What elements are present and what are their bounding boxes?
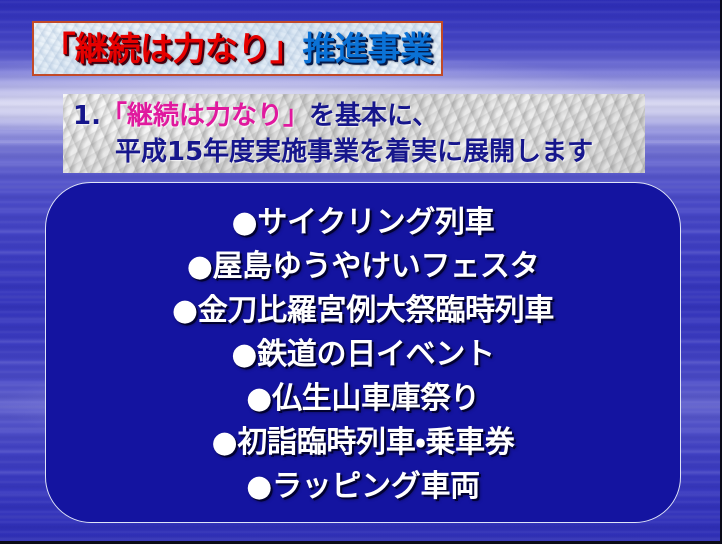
- bullet-list-panel: ●サイクリング列車 ●屋島ゆうやけいフェスタ ●金刀比羅宮例大祭臨時列車 ●鉄道…: [45, 182, 681, 523]
- list-item: ●仏生山車庫祭り: [246, 377, 480, 421]
- subtitle-line-1: 1.「継続は力なり」を基本に、: [73, 98, 645, 134]
- list-item: ●サイクリング列車: [232, 201, 495, 245]
- list-item: ●ラッピング車両: [246, 465, 480, 509]
- subtitle-plaque: 1.「継続は力なり」を基本に、 平成15年度実施事業を着実に展開します: [63, 94, 645, 173]
- slide-canvas: 「継続は力なり」推進事業 1.「継続は力なり」を基本に、 平成15年度実施事業を…: [0, 0, 722, 544]
- subtitle-line-2: 平成15年度実施事業を着実に展開します: [73, 134, 645, 170]
- title-emphasis-text: 「継続は力なり」: [43, 29, 303, 68]
- subtitle-emphasis: 「継続は力なり」: [101, 101, 309, 131]
- title-main-text: 推進事業: [303, 29, 433, 68]
- page-title: 「継続は力なり」推進事業: [43, 32, 433, 65]
- list-item: ●鉄道の日イベント: [231, 333, 494, 377]
- list-item: ●屋島ゆうやけいフェスタ: [187, 245, 540, 289]
- list-item: ●金刀比羅宮例大祭臨時列車: [172, 289, 554, 333]
- subtitle-line1-tail: を基本に、: [309, 101, 438, 131]
- subtitle-number: 1.: [73, 101, 101, 131]
- list-item: ●初詣臨時列車・乗車券: [211, 421, 514, 465]
- title-plaque: 「継続は力なり」推進事業: [32, 21, 443, 76]
